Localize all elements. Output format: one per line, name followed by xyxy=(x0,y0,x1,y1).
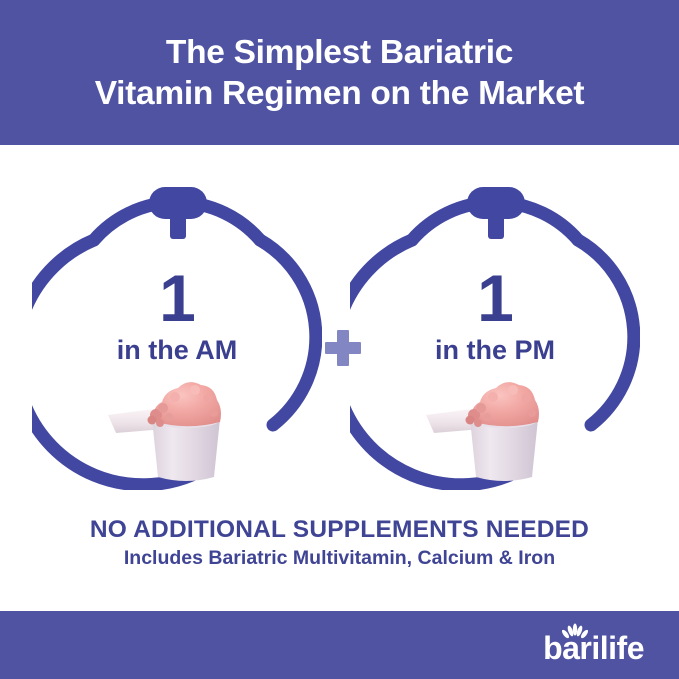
scoop-of-pink-powder-pm xyxy=(420,373,570,485)
dose-group-pm: 1 in the PM xyxy=(350,185,640,490)
plus-vertical-bar xyxy=(337,330,349,366)
header-title-line-1: The Simplest Bariatric xyxy=(166,32,513,73)
claim-text-block: NO ADDITIONAL SUPPLEMENTS NEEDED Include… xyxy=(0,515,679,571)
dose-caption-pm: in the PM xyxy=(350,335,640,365)
dose-group-am: 1 in the AM xyxy=(32,185,322,490)
claim-subline: Includes Bariatric Multivitamin, Calcium… xyxy=(0,546,679,571)
scoop-of-pink-powder-am xyxy=(102,373,252,485)
footer-banner: barilife xyxy=(0,611,679,679)
brand-logo: barilife xyxy=(464,623,644,667)
dose-count-pm: 1 xyxy=(350,265,640,331)
claim-headline: NO ADDITIONAL SUPPLEMENTS NEEDED xyxy=(0,515,679,544)
header-banner: The Simplest Bariatric Vitamin Regimen o… xyxy=(0,0,679,145)
dose-caption-am: in the AM xyxy=(32,335,322,365)
dose-count-am: 1 xyxy=(32,265,322,331)
header-title-line-2: Vitamin Regimen on the Market xyxy=(95,73,585,114)
main-content-area: 1 in the AM xyxy=(0,145,679,611)
bariatric-vitamin-infographic: The Simplest Bariatric Vitamin Regimen o… xyxy=(0,0,679,679)
brand-wordmark: barilife xyxy=(543,631,644,665)
